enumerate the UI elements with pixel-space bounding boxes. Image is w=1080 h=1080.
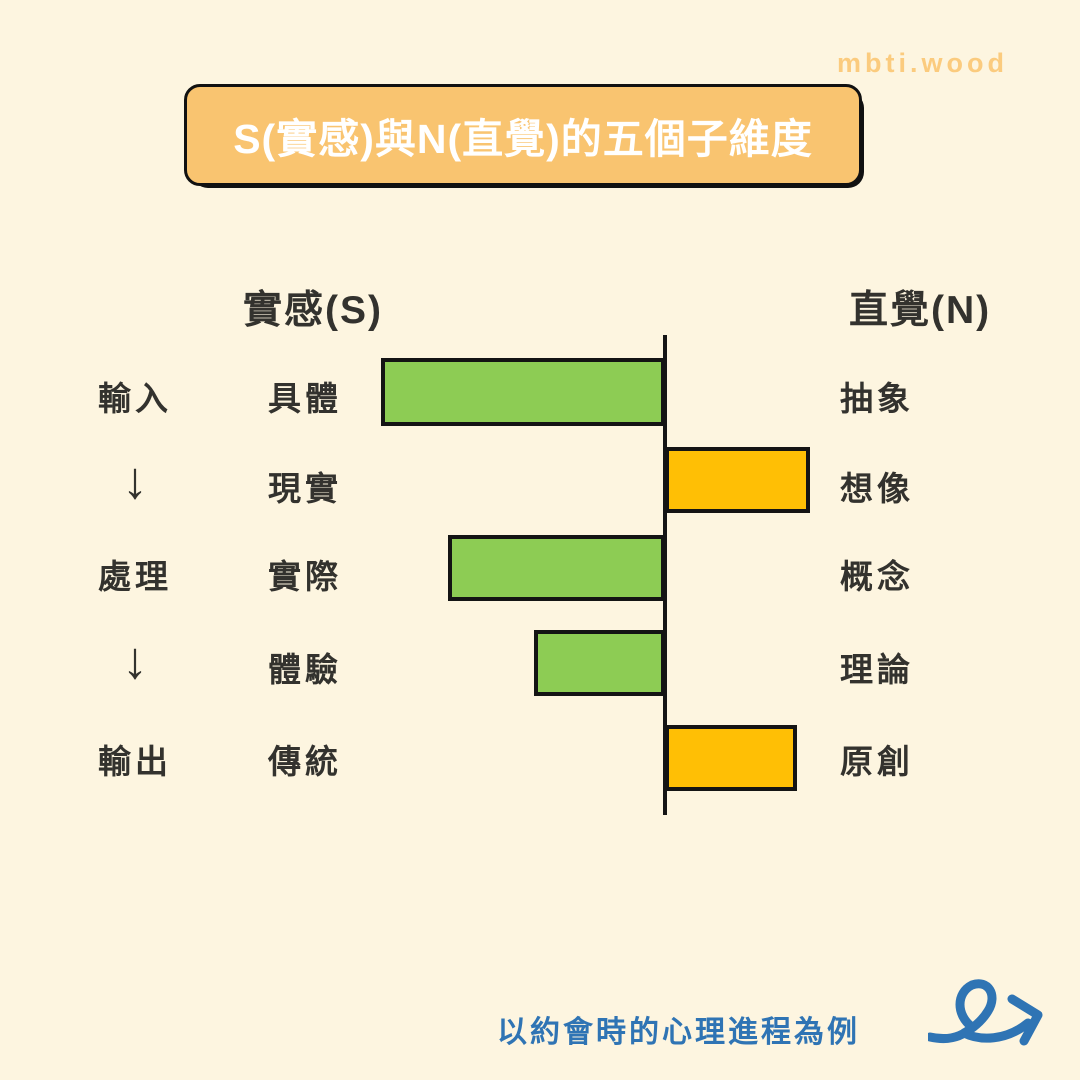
sensing-label-1: 具體	[230, 372, 380, 420]
column-header-intuition: 直覺(N)	[849, 279, 991, 335]
sensing-label-4: 體驗	[230, 643, 380, 691]
arrow-down-icon-2: ↓	[60, 635, 210, 687]
chart-row: 輸出 傳統 原創	[0, 0, 1080, 96]
intuition-label-3: 概念	[840, 550, 1010, 598]
intuition-label-4: 理論	[840, 643, 1010, 691]
diverging-bar-chart: 實感(S) 直覺(N) 輸入 具體 抽象 ↓ 現實 想像 處理 實際 概念 ↓ …	[0, 0, 1080, 1080]
intuition-label-1: 抽象	[840, 372, 1010, 420]
column-header-sensing: 實感(S)	[243, 279, 383, 335]
bar-sensing-1	[381, 358, 665, 426]
arrow-down-icon-1: ↓	[60, 455, 210, 507]
stage-label-output: 輸出	[60, 735, 210, 783]
intuition-label-2: 想像	[840, 462, 1010, 510]
stage-label-process: 處理	[60, 550, 210, 598]
bar-intuition-2	[665, 447, 810, 513]
curly-arrow-icon	[928, 975, 1058, 1055]
sensing-label-3: 實際	[230, 550, 380, 598]
bar-sensing-4	[534, 630, 665, 696]
stage-label-input: 輸入	[60, 372, 210, 420]
intuition-label-5: 原創	[840, 735, 1010, 783]
bar-intuition-5	[665, 725, 797, 791]
sensing-label-2: 現實	[230, 462, 380, 510]
footer-caption: 以約會時的心理進程為例	[497, 1007, 860, 1051]
sensing-label-5: 傳統	[230, 735, 380, 783]
bar-sensing-3	[448, 535, 665, 601]
